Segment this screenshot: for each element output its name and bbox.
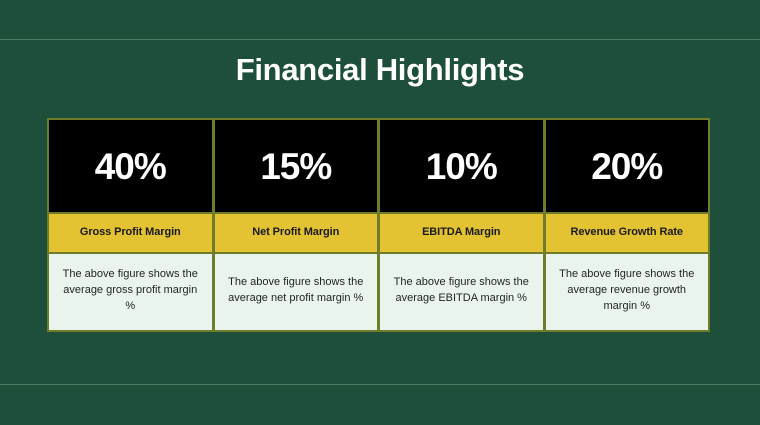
metric-description: The above figure shows the average gross… [61, 266, 200, 314]
metric-description: The above figure shows the average net p… [227, 274, 366, 306]
metric-value: 40% [49, 120, 212, 212]
metric-label: Gross Profit Margin [49, 214, 212, 252]
metric-value: 20% [546, 120, 709, 212]
metric-card[interactable]: 20% Revenue Growth Rate The above figure… [546, 120, 709, 330]
metric-description-panel: The above figure shows the average EBITD… [380, 254, 543, 330]
divider-line-bottom [0, 384, 760, 385]
page-title: Financial Highlights [0, 50, 760, 90]
metric-label: EBITDA Margin [380, 214, 543, 252]
metric-description-panel: The above figure shows the average gross… [49, 254, 212, 330]
metric-description: The above figure shows the average EBITD… [392, 274, 531, 306]
metric-card[interactable]: 40% Gross Profit Margin The above figure… [49, 120, 212, 330]
metric-label: Revenue Growth Rate [546, 214, 709, 252]
metric-label: Net Profit Margin [215, 214, 378, 252]
metric-card[interactable]: 15% Net Profit Margin The above figure s… [215, 120, 378, 330]
metric-description-panel: The above figure shows the average net p… [215, 254, 378, 330]
divider-line-top [0, 39, 760, 40]
metrics-card-grid: 40% Gross Profit Margin The above figure… [47, 118, 710, 332]
slide-canvas: Financial Highlights 40% Gross Profit Ma… [0, 0, 760, 425]
metric-description-panel: The above figure shows the average reven… [546, 254, 709, 330]
metric-card[interactable]: 10% EBITDA Margin The above figure shows… [380, 120, 543, 330]
metric-value: 10% [380, 120, 543, 212]
metric-description: The above figure shows the average reven… [558, 266, 697, 314]
metric-value: 15% [215, 120, 378, 212]
